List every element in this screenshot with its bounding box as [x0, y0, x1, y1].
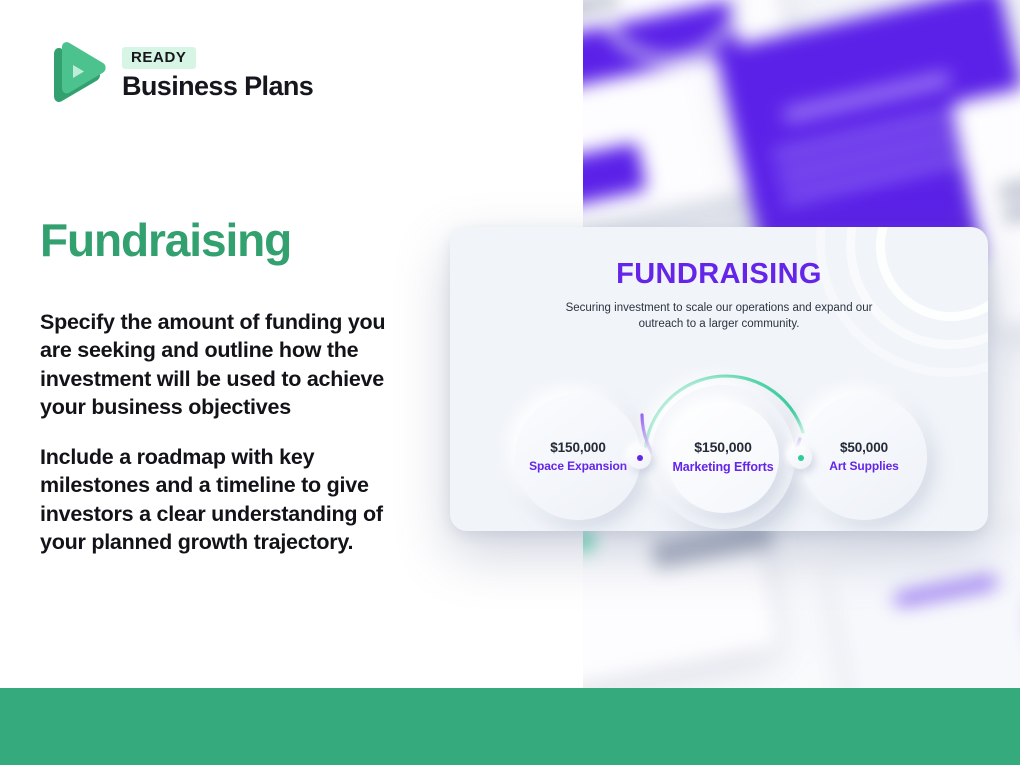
brand-logo-block: READY Business Plans [40, 38, 313, 110]
fundraising-card: FUNDRAISING Securing investment to scale… [450, 227, 988, 531]
bg-green-dot [583, 528, 596, 554]
left-connector-dot [628, 446, 651, 469]
card-title: FUNDRAISING [450, 258, 988, 291]
node-label: Space Expansion [529, 459, 627, 475]
funding-nodes: $150,000 Space Expansion $150,000 Market… [450, 357, 988, 517]
body-paragraph-1: Specify the amount of funding you are se… [40, 308, 422, 422]
right-connector-dot [789, 446, 812, 469]
brand-wordmark: READY Business Plans [122, 47, 313, 100]
node-label: Art Supplies [829, 459, 898, 475]
node-label: Marketing Efforts [672, 459, 773, 475]
ready-badge: READY [122, 47, 196, 69]
page-title: Fundraising [40, 216, 291, 264]
funding-node-art-supplies[interactable]: $50,000 Art Supplies [801, 394, 927, 520]
node-amount: $150,000 [550, 440, 606, 457]
right-connector-dot-core [798, 455, 804, 461]
bg-green-ring [1015, 535, 1020, 688]
card-subtitle: Securing investment to scale our operati… [554, 301, 884, 333]
bg-text-bar [998, 168, 1020, 201]
play-triangle-logo-icon [40, 38, 106, 110]
node-amount: $150,000 [694, 439, 752, 457]
node-inner-disc: $150,000 Marketing Efforts [667, 401, 779, 513]
left-connector-dot-core [637, 455, 643, 461]
body-paragraph-2: Include a roadmap with key milestones an… [40, 443, 422, 557]
footer-bar [0, 688, 1020, 765]
bg-purple-arc-bar [893, 574, 999, 608]
slide-canvas: READY Business Plans Fundraising Specify… [0, 0, 1020, 765]
funding-node-marketing-efforts[interactable]: $150,000 Marketing Efforts [651, 385, 795, 529]
funding-node-space-expansion[interactable]: $150,000 Space Expansion [515, 394, 641, 520]
node-amount: $50,000 [840, 440, 888, 457]
bg-purple-bar [583, 143, 647, 213]
brand-name: Business Plans [122, 72, 313, 100]
